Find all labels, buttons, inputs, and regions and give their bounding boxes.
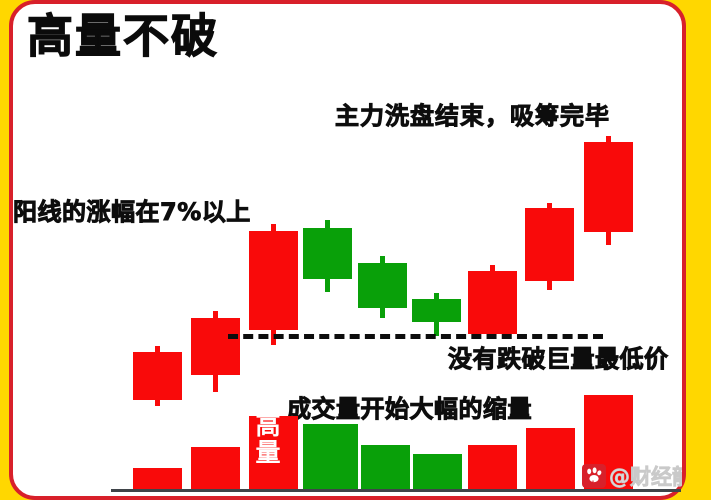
- volume-bar: [133, 468, 182, 490]
- support-dashed-line: [228, 334, 603, 339]
- chart-canvas: 高量不破 主力洗盘结束，吸筹完毕 阳线的涨幅在7%以上 没有跌破巨量最低价 成交…: [13, 0, 682, 500]
- volume-bar: [468, 445, 517, 490]
- candlestick: [249, 224, 298, 345]
- watermark: du @财经龍头: [582, 461, 682, 491]
- candle-body: [412, 299, 461, 322]
- poster-frame: 高量不破 主力洗盘结束，吸筹完毕 阳线的涨幅在7%以上 没有跌破巨量最低价 成交…: [0, 0, 711, 500]
- baidu-paw-icon: du: [582, 464, 606, 488]
- candle-body: [249, 231, 298, 330]
- volume-bar: [191, 447, 240, 490]
- candlestick: [191, 311, 240, 392]
- svg-text:du: du: [590, 481, 599, 488]
- candlestick: [133, 346, 182, 406]
- candle-body: [133, 352, 182, 400]
- high-volume-label: 高量: [249, 412, 287, 466]
- candle-body: [584, 142, 633, 232]
- candlestick: [303, 220, 352, 292]
- candle-body: [191, 318, 240, 375]
- candlestick: [584, 136, 633, 245]
- candlestick: [468, 265, 517, 336]
- candlestick-plot: [13, 0, 682, 500]
- watermark-text: @财经龍头: [609, 461, 682, 491]
- candle-body: [525, 208, 574, 281]
- volume-bar: [303, 424, 358, 490]
- candlestick: [525, 203, 574, 290]
- candlestick: [412, 293, 461, 336]
- volume-bar: [413, 454, 462, 490]
- volume-bar: [361, 445, 410, 490]
- volume-bar: [526, 428, 575, 490]
- candle-body: [303, 228, 352, 279]
- candle-body: [358, 263, 407, 308]
- candle-body: [468, 271, 517, 334]
- candlestick: [358, 256, 407, 318]
